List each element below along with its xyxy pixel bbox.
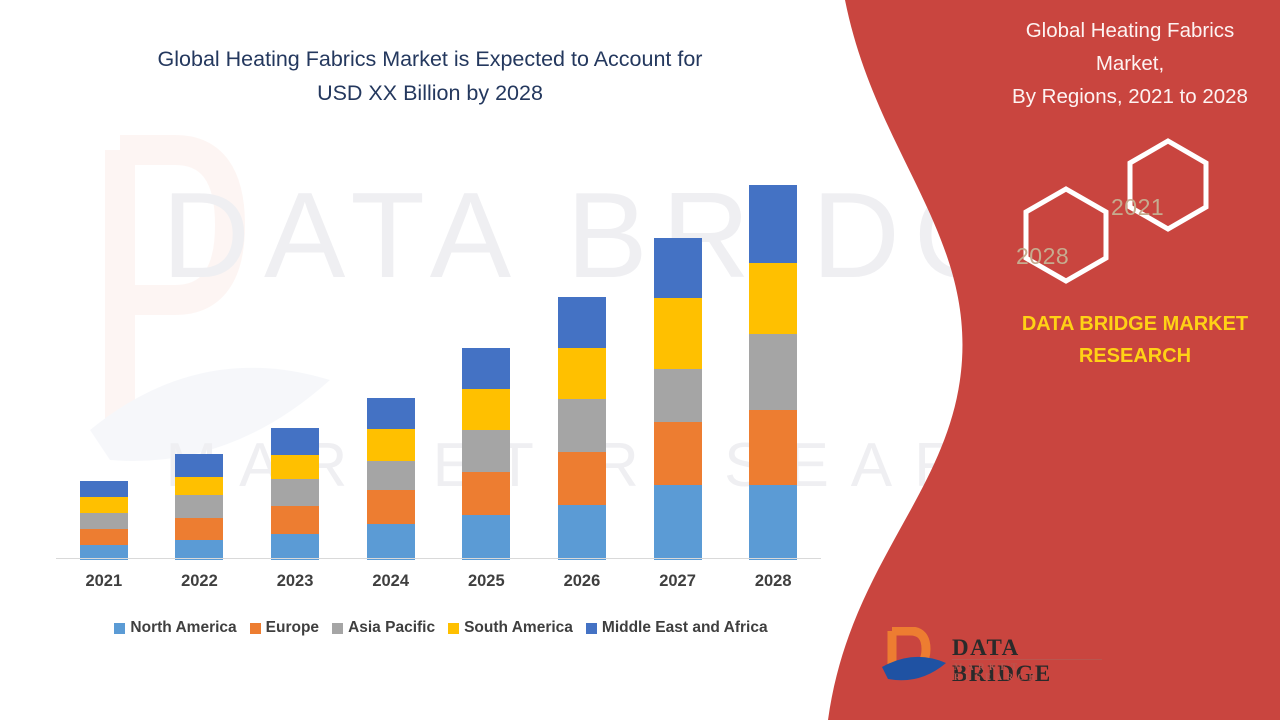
brand-line-2: RESEARCH (990, 340, 1280, 372)
bar-segment[interactable] (462, 348, 510, 389)
logo-mark-icon (880, 627, 950, 689)
panel-title: Global Heating Fabrics Market, By Region… (990, 14, 1270, 113)
bar-segment[interactable] (558, 399, 606, 452)
bar-segment[interactable] (80, 513, 128, 529)
x-axis-labels: 20212022202320242025202620272028 (56, 572, 821, 602)
bar-stack-2026[interactable] (558, 297, 606, 560)
hexagon-label-2021: 2021 (1111, 194, 1164, 221)
legend-swatch-icon (332, 623, 343, 634)
chart-title-line-1: Global Heating Fabrics Market is Expecte… (60, 42, 800, 76)
bar-segment[interactable] (271, 506, 319, 534)
bar-segment[interactable] (271, 455, 319, 479)
bar-stack-2023[interactable] (271, 428, 319, 560)
x-axis-label-2023: 2023 (265, 572, 325, 591)
bar-segment[interactable] (558, 348, 606, 399)
legend-swatch-icon (114, 623, 125, 634)
bar-segment[interactable] (175, 495, 223, 518)
bar-segment[interactable] (367, 524, 415, 560)
bar-segment[interactable] (462, 430, 510, 472)
bar-segment[interactable] (80, 497, 128, 513)
bar-segment[interactable] (175, 518, 223, 540)
bar-segment[interactable] (367, 398, 415, 429)
x-axis-line (56, 558, 821, 559)
bar-stack-2028[interactable] (749, 185, 797, 560)
legend-item-south-america[interactable]: South America (448, 619, 573, 637)
bar-stack-2021[interactable] (80, 481, 128, 560)
legend-item-middle-east-and-africa[interactable]: Middle East and Africa (586, 619, 768, 637)
chart-title-line-2: USD XX Billion by 2028 (60, 76, 800, 110)
legend-swatch-icon (448, 623, 459, 634)
legend-label: South America (464, 619, 573, 637)
brand-line-1: DATA BRIDGE MARKET (990, 308, 1280, 340)
bar-segment[interactable] (558, 297, 606, 348)
logo-subtitle: MARKET RESEARCH (954, 662, 1110, 682)
bar-segment[interactable] (654, 238, 702, 298)
bar-segment[interactable] (749, 410, 797, 485)
bar-segment[interactable] (654, 369, 702, 422)
hexagon-group: 2021 2028 (990, 125, 1270, 295)
legend-item-europe[interactable]: Europe (250, 619, 319, 637)
bar-segment[interactable] (175, 477, 223, 495)
bar-segment[interactable] (175, 454, 223, 477)
bar-segment[interactable] (367, 490, 415, 524)
bar-stack-2027[interactable] (654, 238, 702, 560)
legend-item-asia-pacific[interactable]: Asia Pacific (332, 619, 435, 637)
x-axis-label-2027: 2027 (648, 572, 708, 591)
bar-stack-2025[interactable] (462, 348, 510, 560)
bar-segment[interactable] (749, 485, 797, 560)
x-axis-label-2026: 2026 (552, 572, 612, 591)
panel-title-line-1: Global Heating Fabrics Market, (990, 14, 1270, 80)
x-axis-label-2025: 2025 (456, 572, 516, 591)
x-axis-label-2022: 2022 (169, 572, 229, 591)
bar-segment[interactable] (654, 485, 702, 560)
bar-segment[interactable] (271, 534, 319, 560)
x-axis-label-2028: 2028 (743, 572, 803, 591)
bar-segment[interactable] (558, 452, 606, 505)
bar-segment[interactable] (367, 461, 415, 490)
chart-legend: North AmericaEuropeAsia PacificSouth Ame… (56, 616, 826, 640)
bar-segment[interactable] (80, 481, 128, 497)
brand-text: DATA BRIDGE MARKET RESEARCH (990, 308, 1280, 372)
panel-title-line-2: By Regions, 2021 to 2028 (990, 80, 1270, 113)
bar-segment[interactable] (462, 515, 510, 560)
bar-segment[interactable] (80, 529, 128, 545)
x-axis-label-2024: 2024 (361, 572, 421, 591)
legend-label: Middle East and Africa (602, 619, 768, 637)
slide-canvas: DATA BRIDGE MARKET RESEARCH Global Heati… (0, 0, 1280, 720)
logo-divider (952, 659, 1102, 660)
legend-swatch-icon (250, 623, 261, 634)
hexagon-label-2028: 2028 (1016, 243, 1069, 270)
bar-segment[interactable] (271, 428, 319, 455)
bar-segment[interactable] (367, 429, 415, 461)
bar-segment[interactable] (749, 334, 797, 410)
x-axis-label-2021: 2021 (74, 572, 134, 591)
bar-segment[interactable] (462, 389, 510, 430)
bar-segment[interactable] (749, 263, 797, 334)
legend-label: North America (130, 619, 236, 637)
bar-segment[interactable] (749, 185, 797, 263)
bar-segment[interactable] (558, 505, 606, 560)
company-logo: DATA BRIDGE MARKET RESEARCH (880, 627, 1110, 697)
legend-label: Asia Pacific (348, 619, 435, 637)
right-red-panel: Global Heating Fabrics Market, By Region… (820, 0, 1280, 720)
legend-item-north-america[interactable]: North America (114, 619, 236, 637)
bar-segment[interactable] (654, 298, 702, 369)
bar-segment[interactable] (271, 479, 319, 506)
chart-title: Global Heating Fabrics Market is Expecte… (60, 42, 800, 110)
bar-stack-2024[interactable] (367, 398, 415, 560)
legend-label: Europe (266, 619, 319, 637)
bar-segment[interactable] (654, 422, 702, 485)
legend-swatch-icon (586, 623, 597, 634)
bar-stack-2022[interactable] (175, 454, 223, 560)
bar-segment[interactable] (175, 540, 223, 560)
bar-segment[interactable] (462, 472, 510, 515)
chart-plot-area (56, 150, 821, 560)
